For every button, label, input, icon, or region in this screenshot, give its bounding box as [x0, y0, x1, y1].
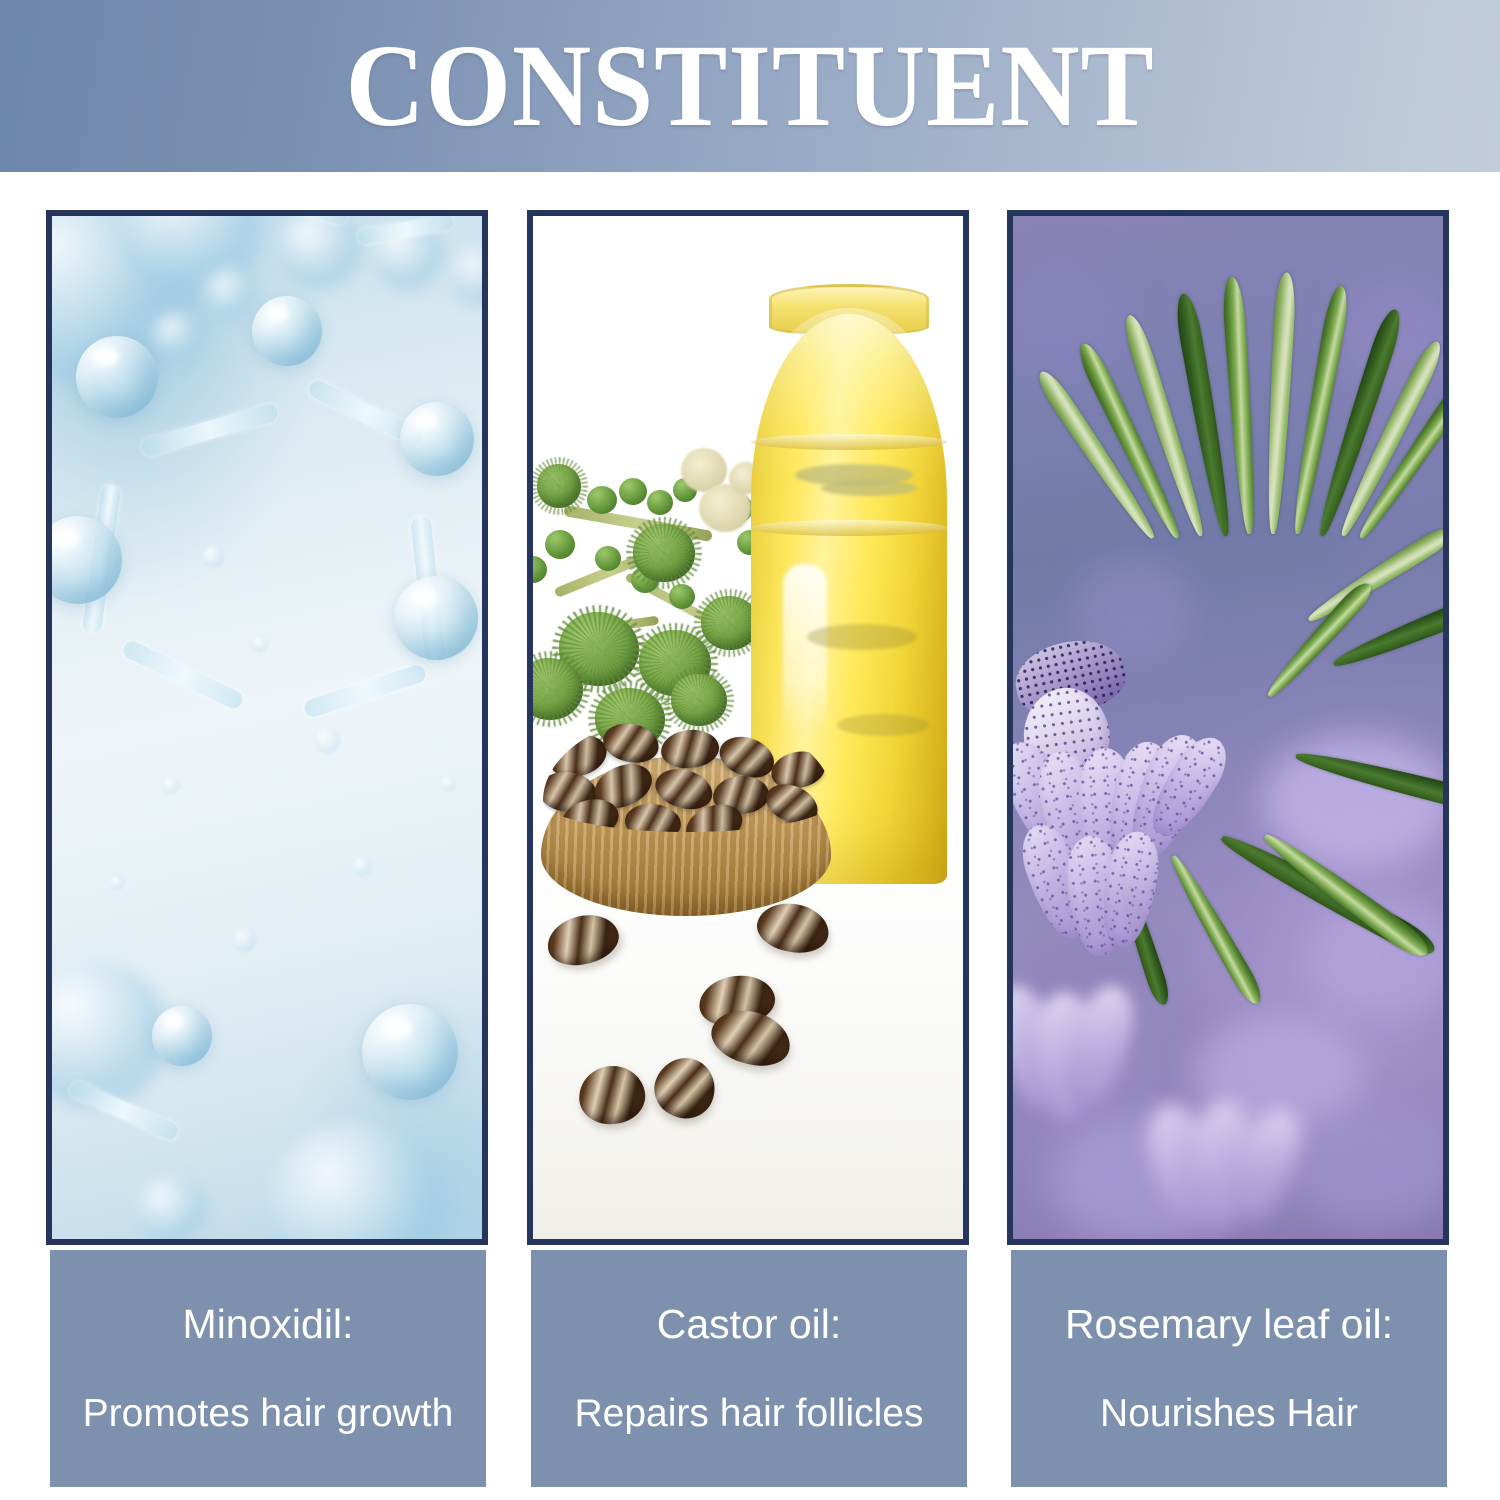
page-title: CONSTITUENT [345, 27, 1154, 145]
carafe-highlight [783, 564, 827, 734]
molecule-photo [52, 216, 482, 1239]
molecule-blur-atom [152, 312, 202, 362]
caption-description: Nourishes Hair [1100, 1392, 1358, 1437]
rosemary-flower-blurred [1133, 1096, 1353, 1239]
rosemary-flower-cluster [1013, 656, 1273, 956]
castor-berry [619, 478, 647, 505]
castor-berry [587, 486, 617, 514]
molecule-atom [252, 296, 322, 366]
caption-rosemary: Rosemary leaf oil: Nourishes Hair [1011, 1250, 1447, 1487]
carafe-herb-sprig [807, 624, 917, 650]
rosemary-needle [1221, 276, 1260, 535]
carafe-herb-sprig [837, 714, 929, 736]
molecule-photo-frame [46, 210, 488, 1245]
rosemary-needle [1263, 272, 1297, 535]
molecule-blur-atom [136, 1176, 206, 1239]
caption-title: Rosemary leaf oil: [1065, 1301, 1393, 1348]
molecule-bubble [440, 776, 456, 792]
castor-oil-photo [533, 216, 963, 1239]
header-banner: CONSTITUENT [0, 0, 1500, 172]
caption-title: Minoxidil: [183, 1301, 354, 1348]
constituent-panel-grid: Minoxidil: Promotes hair growth [0, 172, 1500, 1500]
castor-pod [537, 464, 581, 508]
caption-description: Promotes hair growth [83, 1392, 454, 1437]
molecule-atom [152, 1006, 212, 1066]
caption-title: Castor oil: [657, 1301, 842, 1348]
caption-minoxidil: Minoxidil: Promotes hair growth [50, 1250, 486, 1487]
castor-berry [545, 530, 575, 559]
molecule-bubble [252, 636, 268, 652]
molecule-bubble [162, 776, 180, 794]
caption-castor-oil: Castor oil: Repairs hair follicles [531, 1250, 967, 1487]
rosemary-photo [1013, 216, 1443, 1239]
molecule-bubble [110, 876, 124, 890]
molecule-atom [400, 402, 474, 476]
molecule-atom [76, 336, 158, 418]
castor-berry [533, 556, 547, 583]
rosemary-sprig-top [1133, 246, 1373, 626]
castor-pod [633, 524, 695, 582]
carafe-herb-sprig [821, 480, 917, 496]
molecule-blur-atom [204, 268, 256, 320]
molecule-bubble [202, 546, 224, 568]
castor-oil-photo-frame [527, 210, 969, 1245]
molecule-atom [394, 576, 478, 660]
molecule-bubble [352, 856, 372, 876]
molecule-bubble [232, 928, 256, 952]
castor-seed [659, 727, 721, 771]
castor-berry [595, 546, 621, 571]
castor-pod [533, 658, 583, 720]
castor-berry [647, 490, 673, 515]
caption-description: Repairs hair follicles [575, 1392, 924, 1437]
molecule-atom [362, 1004, 458, 1100]
molecule-bubble [314, 728, 340, 754]
carafe-ring [751, 434, 947, 450]
castor-seed [600, 719, 663, 768]
rosemary-photo-frame [1007, 210, 1449, 1245]
carafe-ring [751, 520, 947, 536]
